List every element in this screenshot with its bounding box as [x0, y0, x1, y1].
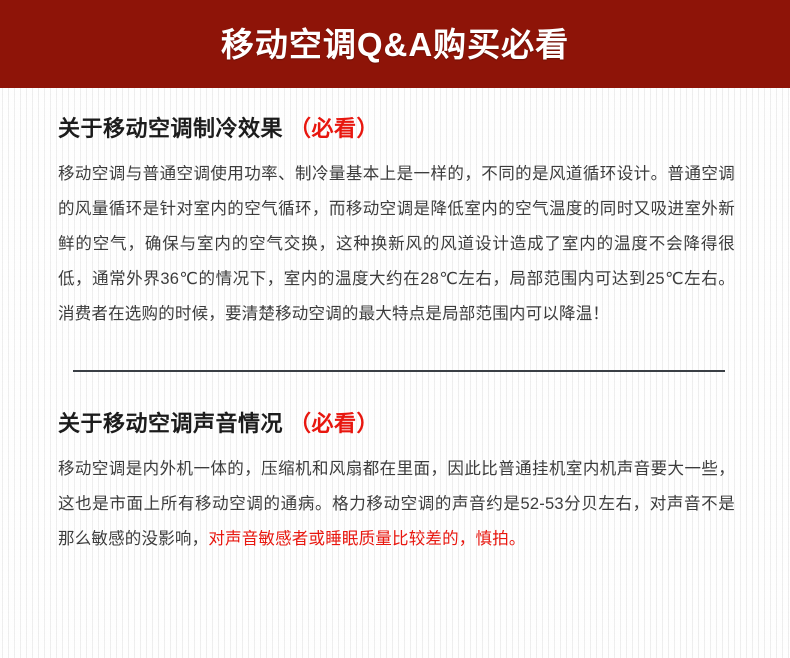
- section-paragraph-cooling-effect: 移动空调与普通空调使用功率、制冷量基本上是一样的，不同的是风道循环设计。普通空调…: [58, 157, 735, 332]
- section-heading-text: 关于移动空调声音情况: [58, 411, 283, 436]
- section-heading-cooling-effect: 关于移动空调制冷效果（必看）: [58, 118, 735, 140]
- section-heading-text: 关于移动空调制冷效果: [58, 116, 283, 141]
- section-divider: [73, 370, 725, 372]
- noise-paragraph-warning-text: 对声音敏感者或睡眠质量比较差的，慎拍。: [208, 530, 525, 548]
- product-detail-page: 移动空调Q&A购买必看 关于移动空调制冷效果（必看） 移动空调与普通空调使用功率…: [0, 0, 790, 658]
- page-banner: 移动空调Q&A购买必看: [0, 0, 790, 88]
- section-heading-noise-level: 关于移动空调声音情况（必看）: [58, 413, 735, 435]
- section-heading-accent: （必看）: [289, 411, 379, 436]
- banner-title: 移动空调Q&A购买必看: [221, 28, 569, 61]
- section-cooling-effect: 关于移动空调制冷效果（必看） 移动空调与普通空调使用功率、制冷量基本上是一样的，…: [0, 118, 790, 332]
- section-paragraph-noise-level: 移动空调是内外机一体的，压缩机和风扇都在里面，因此比普通挂机室内机声音要大一些，…: [58, 452, 735, 557]
- section-noise-level: 关于移动空调声音情况（必看） 移动空调是内外机一体的，压缩机和风扇都在里面，因此…: [0, 413, 790, 557]
- section-heading-accent: （必看）: [289, 116, 379, 141]
